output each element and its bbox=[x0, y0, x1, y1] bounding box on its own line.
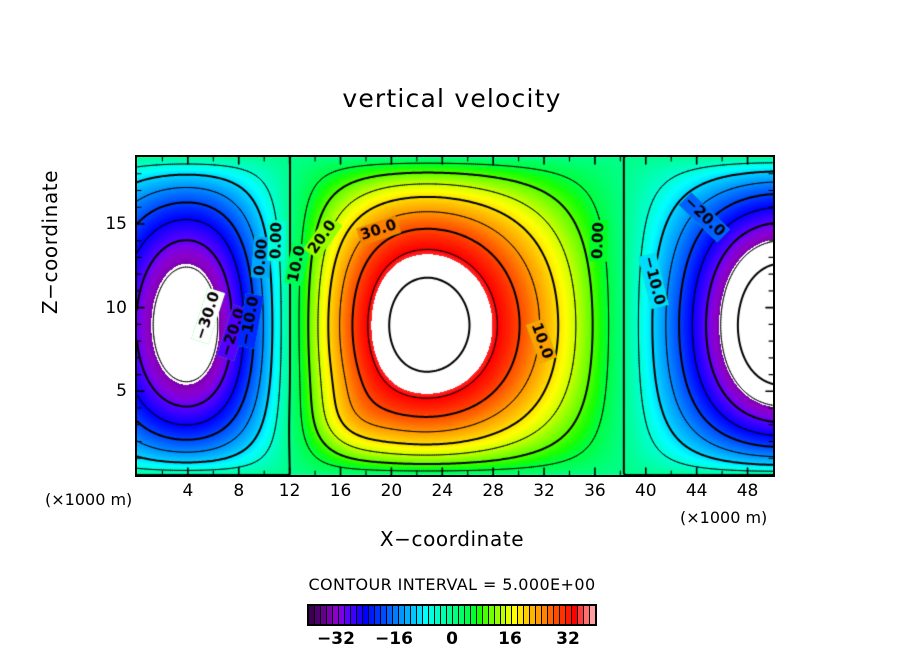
x-axis-unit-left: (×1000 m) bbox=[45, 490, 132, 509]
plot-area bbox=[135, 155, 775, 477]
colorbar bbox=[307, 604, 597, 626]
x-tick-label: 16 bbox=[330, 481, 352, 501]
page-title: vertical velocity bbox=[0, 84, 904, 113]
y-tick-label: 10 bbox=[99, 298, 127, 318]
x-axis-title: X−coordinate bbox=[0, 527, 904, 551]
contour-plot-page: vertical velocity 4812162024283236404448… bbox=[0, 0, 904, 654]
x-tick-label: 4 bbox=[182, 481, 193, 501]
y-tick-label: 15 bbox=[99, 214, 127, 234]
colorbar-tick-labels: −32−1601632 bbox=[307, 629, 597, 651]
colorbar-band bbox=[590, 606, 595, 624]
x-tick-label: 24 bbox=[431, 481, 453, 501]
y-axis-title: Z−coordinate bbox=[38, 152, 62, 332]
colorbar-tick-label: 32 bbox=[556, 629, 580, 649]
x-tick-label: 32 bbox=[533, 481, 555, 501]
x-tick-label: 48 bbox=[737, 481, 759, 501]
contour-interval-caption: CONTOUR INTERVAL = 5.000E+00 bbox=[0, 575, 904, 594]
colorbar-tick-label: 16 bbox=[498, 629, 522, 649]
colorbar-tick-label: −32 bbox=[317, 629, 355, 649]
x-tick-label: 28 bbox=[482, 481, 504, 501]
x-tick-label: 12 bbox=[279, 481, 301, 501]
x-tick-label: 40 bbox=[635, 481, 657, 501]
y-tick-label: 5 bbox=[99, 381, 127, 401]
x-tick-label: 8 bbox=[233, 481, 244, 501]
x-tick-label: 44 bbox=[686, 481, 708, 501]
x-axis-unit-right: (×1000 m) bbox=[680, 508, 767, 527]
x-tick-label: 36 bbox=[584, 481, 606, 501]
x-tick-label: 20 bbox=[381, 481, 403, 501]
colorbar-tick-label: −16 bbox=[375, 629, 413, 649]
colorbar-tick-label: 0 bbox=[446, 629, 458, 649]
contour-field-canvas bbox=[137, 157, 773, 475]
